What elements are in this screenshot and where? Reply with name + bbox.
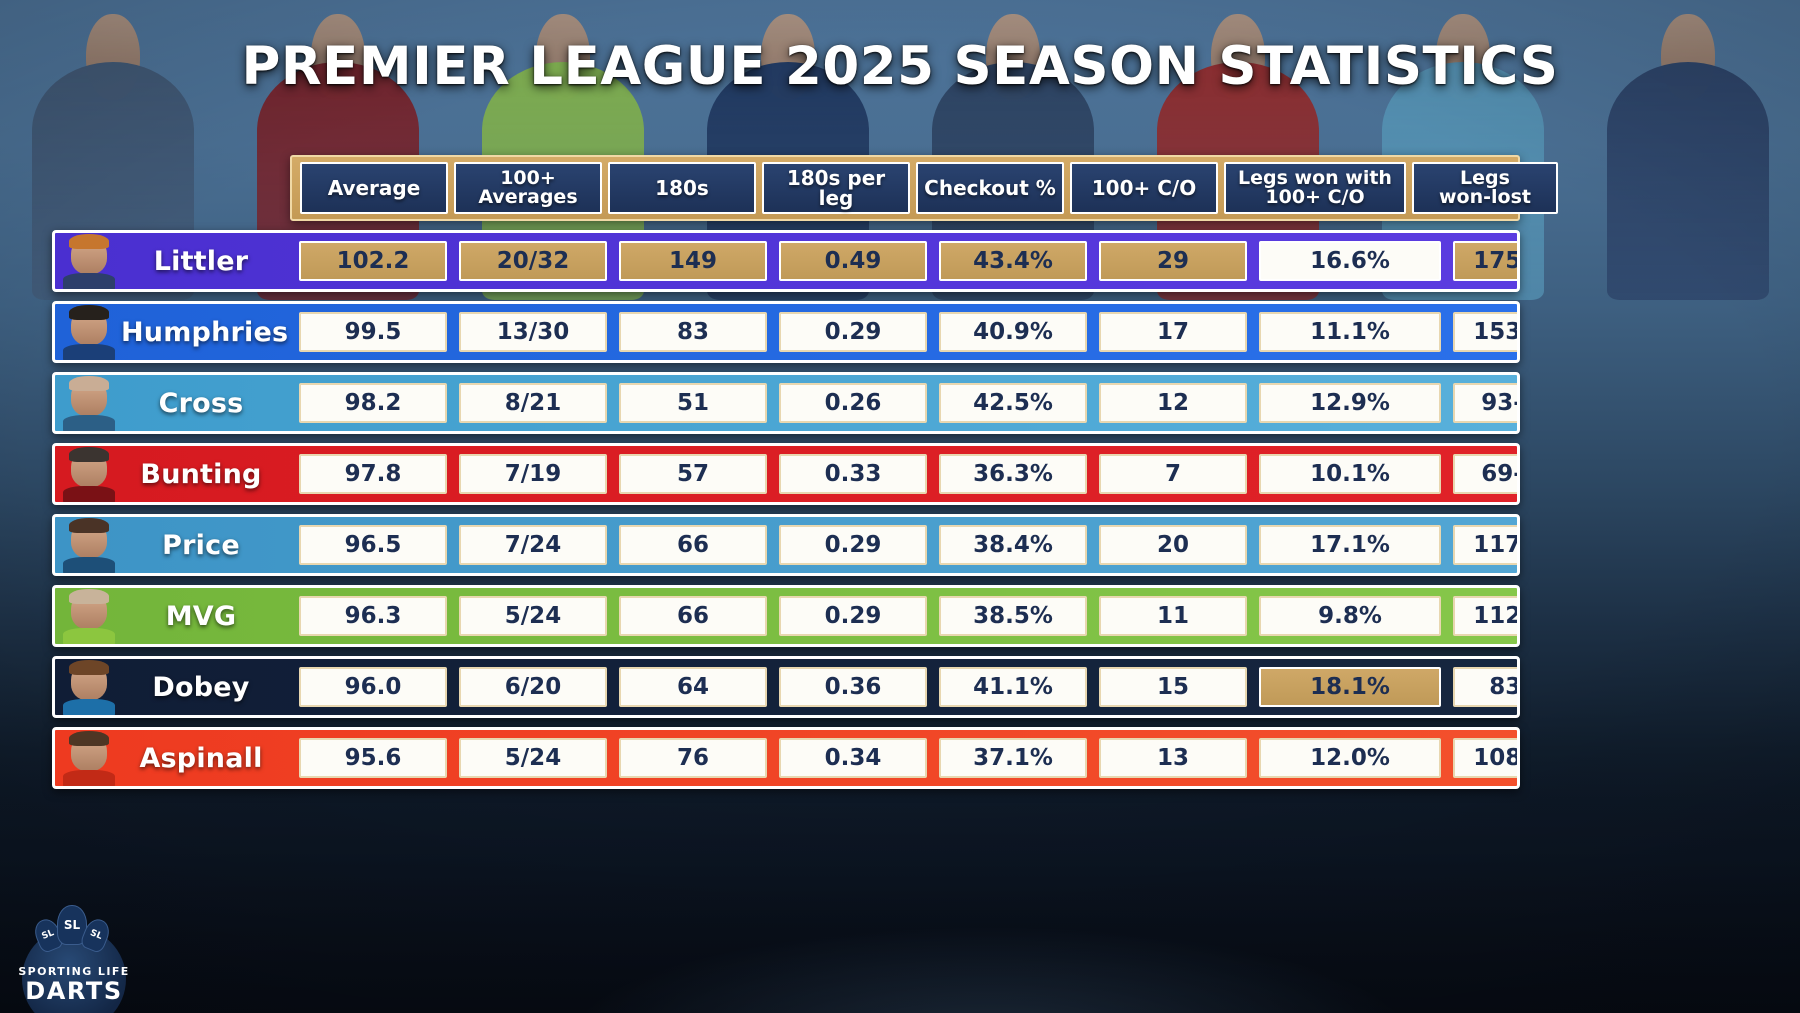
stat-cell-0: 96.3 xyxy=(299,596,447,636)
stat-cell-0: 102.2 xyxy=(299,241,447,281)
stat-cell-6: 12.9% xyxy=(1259,383,1441,423)
column-header-2: 180s xyxy=(608,162,756,214)
stat-cells: 95.65/24760.3437.1%1312.0%108-115 xyxy=(293,730,1520,786)
stat-cell-7: 117-108 xyxy=(1453,525,1520,565)
stat-cell-0: 96.5 xyxy=(299,525,447,565)
stat-cell-1: 6/20 xyxy=(459,667,607,707)
stat-cell-7: 175-130 xyxy=(1453,241,1520,281)
column-header-4-line-0: Checkout % xyxy=(924,176,1056,200)
stat-cells: 102.220/321490.4943.4%2916.6%175-130 xyxy=(293,233,1520,289)
player-name: MVG xyxy=(121,601,293,632)
column-header-5: 100+ C/O xyxy=(1070,162,1218,214)
stat-cell-6: 12.0% xyxy=(1259,738,1441,778)
avatar xyxy=(61,730,117,786)
stat-cell-0: 98.2 xyxy=(299,383,447,423)
table-row[interactable]: Bunting97.87/19570.3336.3%710.1%69-102 xyxy=(52,443,1520,505)
column-header-0-line-0: Average xyxy=(328,176,421,200)
stat-cell-2: 57 xyxy=(619,454,767,494)
column-header-6: Legs won with100+ C/O xyxy=(1224,162,1406,214)
table-row[interactable]: Cross98.28/21510.2642.5%1212.9%93-107 xyxy=(52,372,1520,434)
stat-cell-4: 38.5% xyxy=(939,596,1087,636)
stat-cell-1: 13/30 xyxy=(459,312,607,352)
avatar xyxy=(61,304,117,360)
table-body: Littler102.220/321490.4943.4%2916.6%175-… xyxy=(52,230,1520,789)
stat-cell-5: 11 xyxy=(1099,596,1247,636)
stat-cell-1: 8/21 xyxy=(459,383,607,423)
stat-cell-6: 18.1% xyxy=(1259,667,1441,707)
stat-cell-4: 42.5% xyxy=(939,383,1087,423)
stat-cell-2: 64 xyxy=(619,667,767,707)
statistics-table: Average100+Averages180s180s per legCheck… xyxy=(52,155,1520,789)
avatar xyxy=(61,517,117,573)
stat-cell-3: 0.34 xyxy=(779,738,927,778)
stat-cell-7: 93-107 xyxy=(1453,383,1520,423)
stat-cell-5: 20 xyxy=(1099,525,1247,565)
stat-cells: 96.35/24660.2938.5%119.8%112-122 xyxy=(293,588,1520,644)
column-header-7-line-1: won-lost xyxy=(1439,186,1531,208)
player-cell: Bunting xyxy=(55,446,293,502)
stat-cell-5: 12 xyxy=(1099,383,1247,423)
stat-cell-7: 153-135 xyxy=(1453,312,1520,352)
stat-cells: 96.06/20640.3641.1%1518.1%83-97 xyxy=(293,659,1520,715)
player-cell: Humphries xyxy=(55,304,293,360)
column-header-7: Legswon-lost xyxy=(1412,162,1558,214)
column-header-3: 180s per leg xyxy=(762,162,910,214)
stat-cell-7: 108-115 xyxy=(1453,738,1520,778)
player-cell: MVG xyxy=(55,588,293,644)
stat-cell-2: 66 xyxy=(619,596,767,636)
player-name: Aspinall xyxy=(121,743,293,774)
stat-cell-3: 0.29 xyxy=(779,312,927,352)
stat-cell-6: 16.6% xyxy=(1259,241,1441,281)
stat-cell-1: 20/32 xyxy=(459,241,607,281)
stat-cell-5: 15 xyxy=(1099,667,1247,707)
avatar xyxy=(61,233,117,289)
player-cell: Dobey xyxy=(55,659,293,715)
stat-cell-6: 9.8% xyxy=(1259,596,1441,636)
column-header-5-line-0: 100+ C/O xyxy=(1092,176,1196,200)
stat-cell-1: 5/24 xyxy=(459,738,607,778)
stat-cell-4: 41.1% xyxy=(939,667,1087,707)
stat-cell-0: 96.0 xyxy=(299,667,447,707)
player-cell: Price xyxy=(55,517,293,573)
stat-cells: 99.513/30830.2940.9%1711.1%153-135 xyxy=(293,304,1520,360)
stat-cell-7: 69-102 xyxy=(1453,454,1520,494)
stat-cell-3: 0.26 xyxy=(779,383,927,423)
stat-cells: 96.57/24660.2938.4%2017.1%117-108 xyxy=(293,517,1520,573)
stat-cell-3: 0.33 xyxy=(779,454,927,494)
stat-cell-7: 112-122 xyxy=(1453,596,1520,636)
column-header-1: 100+Averages xyxy=(454,162,602,214)
column-header-2-line-0: 180s xyxy=(655,176,709,200)
logo-line-2: DARTS xyxy=(14,977,134,1005)
stat-cell-2: 76 xyxy=(619,738,767,778)
column-header-0: Average xyxy=(300,162,448,214)
sporting-life-darts-logo: SL SL SL SPORTING LIFE DARTS xyxy=(14,901,134,1005)
table-row[interactable]: Humphries99.513/30830.2940.9%1711.1%153-… xyxy=(52,301,1520,363)
stat-cell-4: 37.1% xyxy=(939,738,1087,778)
avatar xyxy=(61,446,117,502)
column-header-6-line-1: 100+ C/O xyxy=(1265,186,1364,208)
avatar xyxy=(61,375,117,431)
stat-cell-5: 7 xyxy=(1099,454,1247,494)
stat-cell-3: 0.29 xyxy=(779,525,927,565)
stat-cell-0: 95.6 xyxy=(299,738,447,778)
player-cell: Aspinall xyxy=(55,730,293,786)
stat-cell-3: 0.36 xyxy=(779,667,927,707)
player-name: Price xyxy=(121,530,293,561)
stat-cell-0: 99.5 xyxy=(299,312,447,352)
player-name: Bunting xyxy=(121,459,293,490)
stat-cell-6: 10.1% xyxy=(1259,454,1441,494)
stat-cell-4: 36.3% xyxy=(939,454,1087,494)
stat-cell-1: 5/24 xyxy=(459,596,607,636)
column-header-4: Checkout % xyxy=(916,162,1064,214)
stat-cell-5: 17 xyxy=(1099,312,1247,352)
stat-cell-2: 149 xyxy=(619,241,767,281)
table-row[interactable]: Dobey96.06/20640.3641.1%1518.1%83-97 xyxy=(52,656,1520,718)
stat-cell-2: 83 xyxy=(619,312,767,352)
stat-cell-7: 83-97 xyxy=(1453,667,1520,707)
stat-cell-3: 0.49 xyxy=(779,241,927,281)
stat-cell-6: 11.1% xyxy=(1259,312,1441,352)
stat-cell-4: 40.9% xyxy=(939,312,1087,352)
stat-cell-6: 17.1% xyxy=(1259,525,1441,565)
page-title: PREMIER LEAGUE 2025 SEASON STATISTICS xyxy=(0,36,1800,97)
table-header-row: Average100+Averages180s180s per legCheck… xyxy=(290,155,1520,221)
column-header-1-line-1: Averages xyxy=(478,186,577,208)
stat-cell-5: 29 xyxy=(1099,241,1247,281)
stat-cell-2: 51 xyxy=(619,383,767,423)
logo-dart-flights-icon: SL SL SL xyxy=(14,901,134,963)
player-name: Cross xyxy=(121,388,293,419)
stat-cell-2: 66 xyxy=(619,525,767,565)
stat-cell-1: 7/24 xyxy=(459,525,607,565)
stat-cell-4: 38.4% xyxy=(939,525,1087,565)
stat-cells: 98.28/21510.2642.5%1212.9%93-107 xyxy=(293,375,1520,431)
stat-cell-1: 7/19 xyxy=(459,454,607,494)
player-cell: Littler xyxy=(55,233,293,289)
stat-cell-3: 0.29 xyxy=(779,596,927,636)
table-row[interactable]: MVG96.35/24660.2938.5%119.8%112-122 xyxy=(52,585,1520,647)
player-name: Dobey xyxy=(121,672,293,703)
table-row[interactable]: Aspinall95.65/24760.3437.1%1312.0%108-11… xyxy=(52,727,1520,789)
stat-cell-5: 13 xyxy=(1099,738,1247,778)
stat-cell-4: 43.4% xyxy=(939,241,1087,281)
stat-cell-0: 97.8 xyxy=(299,454,447,494)
player-name: Littler xyxy=(121,246,293,277)
stat-cells: 97.87/19570.3336.3%710.1%69-102 xyxy=(293,446,1520,502)
avatar xyxy=(61,659,117,715)
table-row[interactable]: Littler102.220/321490.4943.4%2916.6%175-… xyxy=(52,230,1520,292)
avatar xyxy=(61,588,117,644)
player-cell: Cross xyxy=(55,375,293,431)
table-row[interactable]: Price96.57/24660.2938.4%2017.1%117-108 xyxy=(52,514,1520,576)
player-name: Humphries xyxy=(121,317,300,348)
column-header-3-line-0: 180s per leg xyxy=(787,166,885,210)
